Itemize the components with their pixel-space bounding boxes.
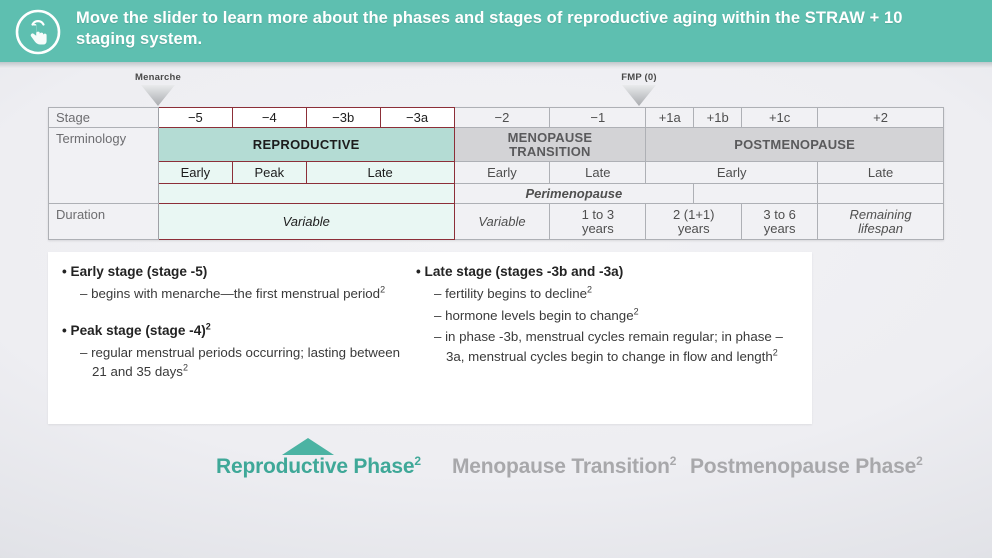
slide-canvas: Move the slider to learn more about the … — [0, 0, 992, 558]
straw-staging-table: Stage −5 −4 −3b −3a −2 −1 +1a +1b +1c +2… — [48, 107, 944, 240]
bullet-sub-text: begins with menarche—the first menstrual… — [91, 286, 380, 301]
phase-selector-arrow-icon — [282, 438, 334, 455]
table-row-duration: Duration Variable Variable 1 to 3 years … — [49, 204, 944, 240]
band-mt-line2: TRANSITION — [509, 144, 590, 159]
stage-cell--5: −5 — [158, 108, 232, 128]
band-reproductive: REPRODUCTIVE — [158, 128, 454, 162]
band-mt-line1: MENOPAUSE — [508, 130, 593, 145]
substage-early-pm: Early — [646, 162, 818, 184]
row-label-duration: Duration — [49, 204, 159, 240]
table-row-substage: Early Peak Late Early Late Early Late — [49, 162, 944, 184]
stage-cell-+1c: +1c — [742, 108, 818, 128]
duration-pm-1c: 3 to 6 years — [742, 204, 818, 240]
bullet-heading-text: Peak stage (stage -4) — [71, 323, 206, 338]
duration-pm-1c-line1: 3 to 6 — [763, 207, 796, 222]
header-banner: Move the slider to learn more about the … — [0, 0, 992, 62]
stage-cell-+2: +2 — [818, 108, 944, 128]
marker-fmp: FMP (0) — [599, 72, 679, 106]
marker-fmp-label: FMP (0) — [599, 72, 679, 83]
bullet-heading: • Early stage (stage -5) — [62, 262, 412, 282]
duration-pm-2-line1: Remaining — [849, 207, 911, 222]
duration-mt-late: 1 to 3 years — [550, 204, 646, 240]
duration-pm-2: Remaining lifespan — [818, 204, 944, 240]
bullet-sub-text: fertility begins to decline — [445, 286, 587, 301]
row-label-terminology: Terminology — [49, 128, 159, 204]
banner-shadow — [0, 62, 992, 69]
phase-tab-reproductive-sup: 2 — [414, 454, 420, 468]
bullet-sub: – begins with menarche—the first menstru… — [62, 284, 412, 304]
perimenopause-blank-1 — [694, 184, 818, 204]
bullet-sub-text: regular menstrual periods occurring; las… — [91, 345, 400, 380]
phase-tab-reproductive-label: Reproductive Phase — [216, 455, 414, 478]
bullet-sub: – fertility begins to decline2 — [416, 284, 800, 304]
duration-reproductive: Variable — [158, 204, 454, 240]
table-row-perimenopause: Perimenopause — [49, 184, 944, 204]
duration-mt-late-line2: years — [582, 221, 614, 236]
substage-early-mt: Early — [454, 162, 550, 184]
bullet-heading-text: Early stage (stage -5) — [71, 264, 208, 279]
perimenopause-blank-2 — [818, 184, 944, 204]
substage-early-reproductive: Early — [158, 162, 232, 184]
marker-fmp-triangle-icon — [622, 85, 656, 106]
phase-tab-menopause-transition-sup: 2 — [670, 454, 676, 468]
band-postmenopause: POSTMENOPAUSE — [646, 128, 944, 162]
duration-pm-1ab: 2 (1+1) years — [646, 204, 742, 240]
substage-late-reproductive: Late — [306, 162, 454, 184]
stage-cell-+1a: +1a — [646, 108, 694, 128]
band-menopause-transition: MENOPAUSE TRANSITION — [454, 128, 646, 162]
bullet-sub: – hormone levels begin to change2 — [416, 306, 800, 326]
bullet-sub-text: in phase -3b, menstrual cycles remain re… — [445, 329, 783, 364]
banner-text: Move the slider to learn more about the … — [76, 8, 956, 50]
phase-tab-reproductive[interactable]: Reproductive Phase2 — [216, 455, 421, 479]
bullet-sub-sup: 2 — [380, 285, 385, 295]
duration-mt-late-line1: 1 to 3 — [582, 207, 615, 222]
bullet-sub-sup: 2 — [587, 285, 592, 295]
bullet-heading-sup: 2 — [206, 321, 211, 331]
duration-pm-1ab-line2: years — [678, 221, 710, 236]
stage-cell--4: −4 — [232, 108, 306, 128]
bullet-sub-text: hormone levels begin to change — [445, 308, 634, 323]
table-row-stage: Stage −5 −4 −3b −3a −2 −1 +1a +1b +1c +2 — [49, 108, 944, 128]
info-panel: • Early stage (stage -5) – begins with m… — [48, 252, 812, 424]
perimenopause-blank-reproductive — [158, 184, 454, 204]
bullet-sub-sup: 2 — [183, 363, 188, 373]
marker-menarche-triangle-icon — [141, 85, 175, 106]
stage-cell-+1b: +1b — [694, 108, 742, 128]
bullet-heading: • Late stage (stages -3b and -3a) — [416, 262, 800, 282]
phase-tab-menopause-transition[interactable]: Menopause Transition2 — [452, 455, 676, 479]
substage-peak-reproductive: Peak — [232, 162, 306, 184]
table-row-terminology-band: Terminology REPRODUCTIVE MENOPAUSE TRANS… — [49, 128, 944, 162]
info-column-right: • Late stage (stages -3b and -3a) – fert… — [416, 262, 800, 370]
duration-mt-early: Variable — [454, 204, 550, 240]
stage-cell--3a: −3a — [380, 108, 454, 128]
duration-pm-2-line2: lifespan — [858, 221, 903, 236]
bullet-sub-sup: 2 — [773, 347, 778, 357]
bullet-sub-sup: 2 — [634, 306, 639, 316]
bullet-item: • Early stage (stage -5) – begins with m… — [62, 262, 412, 304]
duration-pm-1ab-line1: 2 (1+1) — [673, 207, 715, 222]
phase-tab-postmenopause-label: Postmenopause Phase — [690, 455, 916, 478]
column-spacer — [62, 308, 412, 321]
bullet-sub: – regular menstrual periods occurring; l… — [62, 343, 412, 382]
bullet-heading-text: Late stage (stages -3b and -3a) — [425, 264, 624, 279]
tap-hand-icon — [14, 8, 62, 56]
phase-tab-menopause-transition-label: Menopause Transition — [452, 455, 670, 478]
stage-cell--2: −2 — [454, 108, 550, 128]
bullet-item: • Peak stage (stage -4)2 – regular menst… — [62, 321, 412, 382]
bullet-heading: • Peak stage (stage -4)2 — [62, 321, 412, 341]
row-label-stage: Stage — [49, 108, 159, 128]
duration-pm-1c-line2: years — [764, 221, 796, 236]
stage-cell--1: −1 — [550, 108, 646, 128]
substage-late-pm: Late — [818, 162, 944, 184]
bullet-sub: – in phase -3b, menstrual cycles remain … — [416, 327, 800, 366]
phase-tab-postmenopause-sup: 2 — [916, 454, 922, 468]
substage-late-mt: Late — [550, 162, 646, 184]
bullet-item: • Late stage (stages -3b and -3a) – fert… — [416, 262, 800, 366]
marker-menarche: Menarche — [118, 72, 198, 106]
info-column-left: • Early stage (stage -5) – begins with m… — [62, 262, 412, 386]
marker-menarche-label: Menarche — [118, 72, 198, 83]
phase-tab-postmenopause[interactable]: Postmenopause Phase2 — [690, 455, 923, 479]
perimenopause-span: Perimenopause — [454, 184, 694, 204]
stage-cell--3b: −3b — [306, 108, 380, 128]
